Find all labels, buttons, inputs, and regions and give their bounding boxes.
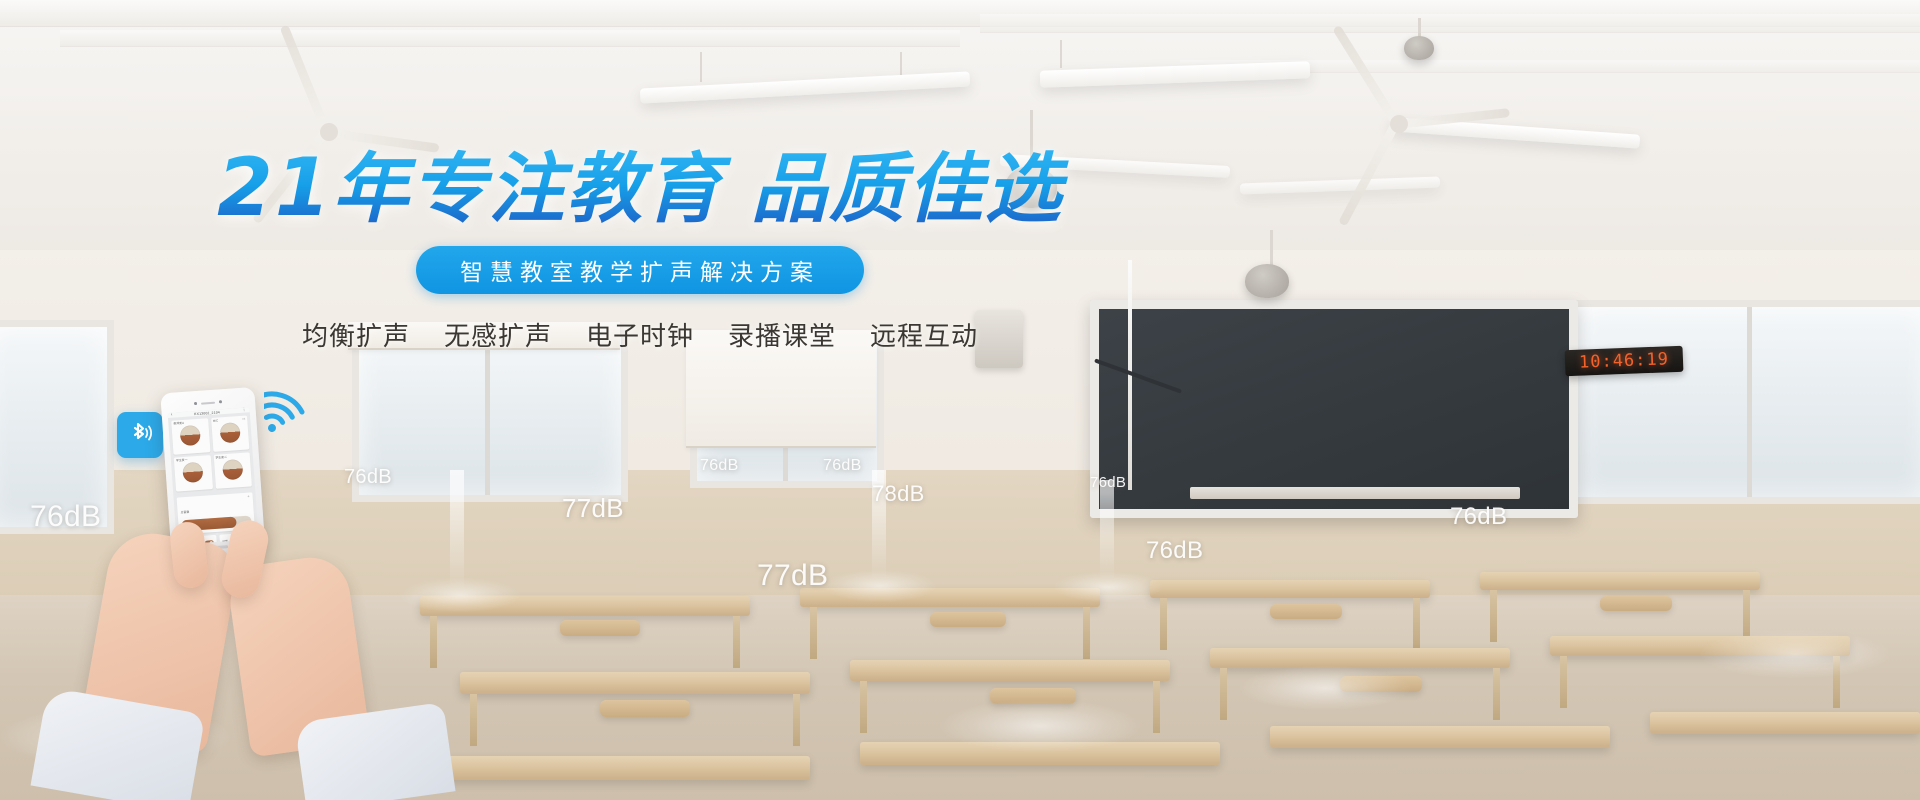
window [1570,300,1920,504]
db-reading: 76dB [1090,474,1126,491]
wifi-signal-icon [264,382,320,434]
channel-tile[interactable]: 学生麦二 [213,452,252,488]
clock-time: 10:46:19 [1579,349,1670,372]
volume-knob[interactable] [180,425,201,446]
window [352,330,628,502]
banner-stage: 76dB 76dB 77dB 76dB 76dB 78dB 77dB 76dB … [0,0,1920,800]
desk [460,672,810,694]
desk [1480,572,1760,590]
chair [600,700,690,717]
page-title: 21年专注教育 品质佳选 [180,148,1100,228]
sound-ring [1054,572,1162,602]
channel-tile[interactable]: MIC 88 [211,415,250,451]
sound-beam [1100,480,1114,580]
ceiling-speaker [1404,36,1434,60]
sound-beam [450,470,464,590]
chair [560,620,640,636]
sound-ring [1240,666,1410,710]
feature-item: 录播课堂 [728,316,836,353]
db-reading: 77dB [562,493,624,524]
db-reading: 76dB [1146,537,1203,565]
channel-tile[interactable]: 学生麦一 [174,455,213,491]
sound-ring [400,578,520,612]
channel-tile[interactable]: 教师麦A [171,418,210,454]
db-reading: 76dB [30,500,101,534]
headline-block: 21年专注教育 品质佳选 智慧教室教学扩声解决方案 均衡扩声 无感扩声 电子时钟… [180,148,1100,353]
desk [850,660,1170,681]
volume-knob[interactable] [182,462,203,483]
desk [1150,580,1430,598]
db-reading: 76dB [1450,503,1507,531]
feature-item: 均衡扩声 [302,316,410,353]
channel-grid: 教师麦A MIC 88 学生麦一 学生麦二 [168,412,255,495]
headline-number: 21 [217,141,332,234]
db-reading: 76dB [823,457,862,475]
settings-label: 设置 [222,539,228,543]
sound-ring [940,700,1140,752]
desk [1210,648,1510,668]
volume-knob[interactable] [219,422,240,443]
feature-item: 无感扩声 [444,316,552,353]
headline-rest: 年专注教育 品质佳选 [332,144,1062,233]
sound-ring [824,570,936,602]
chair [1600,596,1672,611]
db-reading: 76dB [700,457,739,475]
bluetooth-icon [117,412,163,458]
ceiling-speaker [1245,264,1289,298]
chair [930,612,1006,627]
chair [1270,604,1342,619]
sound-ring [1700,630,1890,678]
plus-icon[interactable]: + [247,495,250,499]
subtitle-pill: 智慧教室教学扩声解决方案 [416,246,864,294]
ceiling-panel [60,30,960,47]
db-reading: 77dB [757,559,828,593]
db-reading: 76dB [344,466,392,489]
blackboard-tray [1190,487,1520,499]
feature-item: 远程互动 [870,316,978,353]
master-volume-label: 总音量 [180,510,189,515]
feature-list: 均衡扩声 无感扩声 电子时钟 录播课堂 远程互动 [180,316,1100,353]
desk [1270,726,1610,748]
desk [430,756,810,780]
blackboard [1090,300,1578,518]
db-reading: 78dB [872,481,925,507]
ceiling-panel [980,14,1920,33]
volume-knob[interactable] [222,459,243,480]
digital-clock: 10:46:19 [1565,346,1684,377]
feature-item: 电子时钟 [586,316,694,353]
channel-badge: 88 [242,418,245,421]
desk [1650,712,1920,734]
